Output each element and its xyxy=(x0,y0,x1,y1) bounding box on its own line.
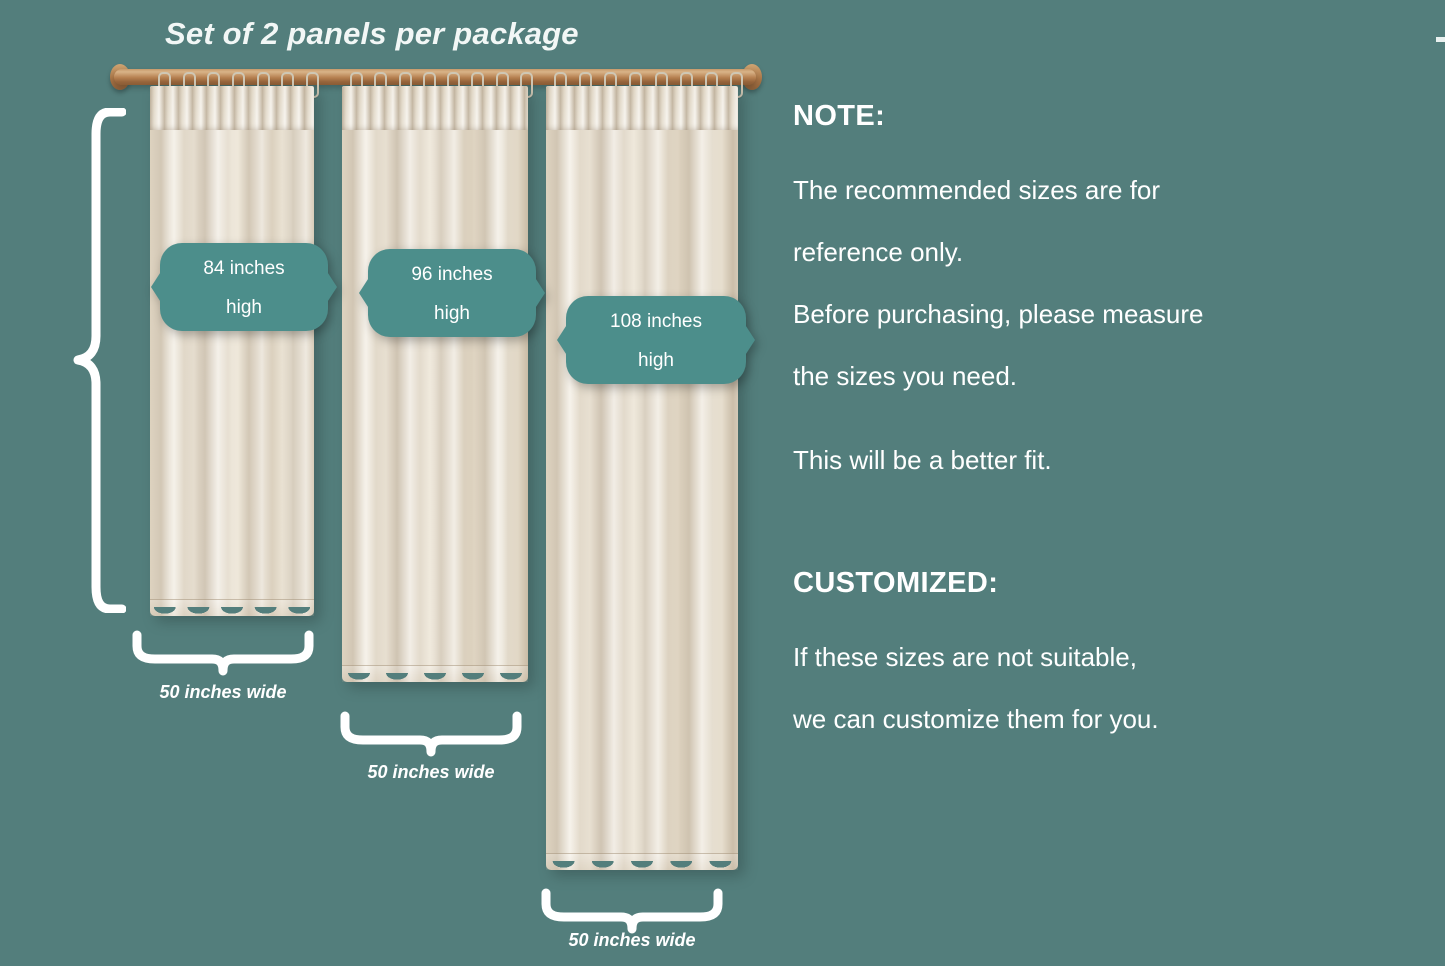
curtain-panel-108 xyxy=(546,86,738,870)
badge-line-1: 108 inches xyxy=(586,302,726,341)
badge-line-2: high xyxy=(586,341,726,380)
panel-pleat-header xyxy=(342,86,528,130)
note-line-5: This will be a better fit. xyxy=(793,429,1393,491)
customized-section: CUSTOMIZED: If these sizes are not suita… xyxy=(793,567,1393,750)
width-brace-1 xyxy=(132,630,314,676)
badge-nub-right xyxy=(525,276,545,310)
curtain-panel-84 xyxy=(150,86,314,616)
note-line-4: the sizes you need. xyxy=(793,345,1393,407)
badge-line-1: 84 inches xyxy=(180,249,308,288)
width-label-3: 50 inches wide xyxy=(541,930,723,951)
customized-line-2: we can customize them for you. xyxy=(793,688,1393,750)
note-heading: NOTE: xyxy=(793,100,1393,133)
panel-bottom-wave xyxy=(544,861,740,879)
height-brace xyxy=(72,108,126,613)
infographic-canvas: Set of 2 panels per package 84 inches hi… xyxy=(0,0,1445,966)
badge-line-1: 96 inches xyxy=(388,255,516,294)
customized-heading: CUSTOMIZED: xyxy=(793,567,1393,600)
height-badge-96: 96 inches high xyxy=(368,249,536,337)
panel-fabric xyxy=(546,86,738,870)
corner-artifact xyxy=(1436,37,1445,42)
page-title: Set of 2 panels per package xyxy=(165,16,579,52)
height-badge-108: 108 inches high xyxy=(566,296,746,384)
badge-line-2: high xyxy=(388,294,516,333)
note-line-1: The recommended sizes are for xyxy=(793,159,1393,221)
note-line-3: Before purchasing, please measure xyxy=(793,283,1393,345)
customized-line-1: If these sizes are not suitable, xyxy=(793,626,1393,688)
badge-nub-right xyxy=(735,323,755,357)
note-section: NOTE: The recommended sizes are for refe… xyxy=(793,100,1393,491)
panel-pleat-header xyxy=(150,86,314,130)
note-line-2: reference only. xyxy=(793,221,1393,283)
width-label-1: 50 inches wide xyxy=(132,682,314,703)
width-label-2: 50 inches wide xyxy=(340,762,522,783)
badge-nub-right xyxy=(317,270,337,304)
curtain-panel-96 xyxy=(342,86,528,682)
badge-line-2: high xyxy=(180,288,308,327)
panel-fabric xyxy=(342,86,528,682)
width-brace-2 xyxy=(340,711,522,757)
panel-fabric xyxy=(150,86,314,616)
width-brace-3 xyxy=(541,888,723,934)
panel-pleat-header xyxy=(546,86,738,130)
panel-bottom-wave xyxy=(340,673,530,691)
height-badge-84: 84 inches high xyxy=(160,243,328,331)
panel-bottom-wave xyxy=(148,607,316,625)
